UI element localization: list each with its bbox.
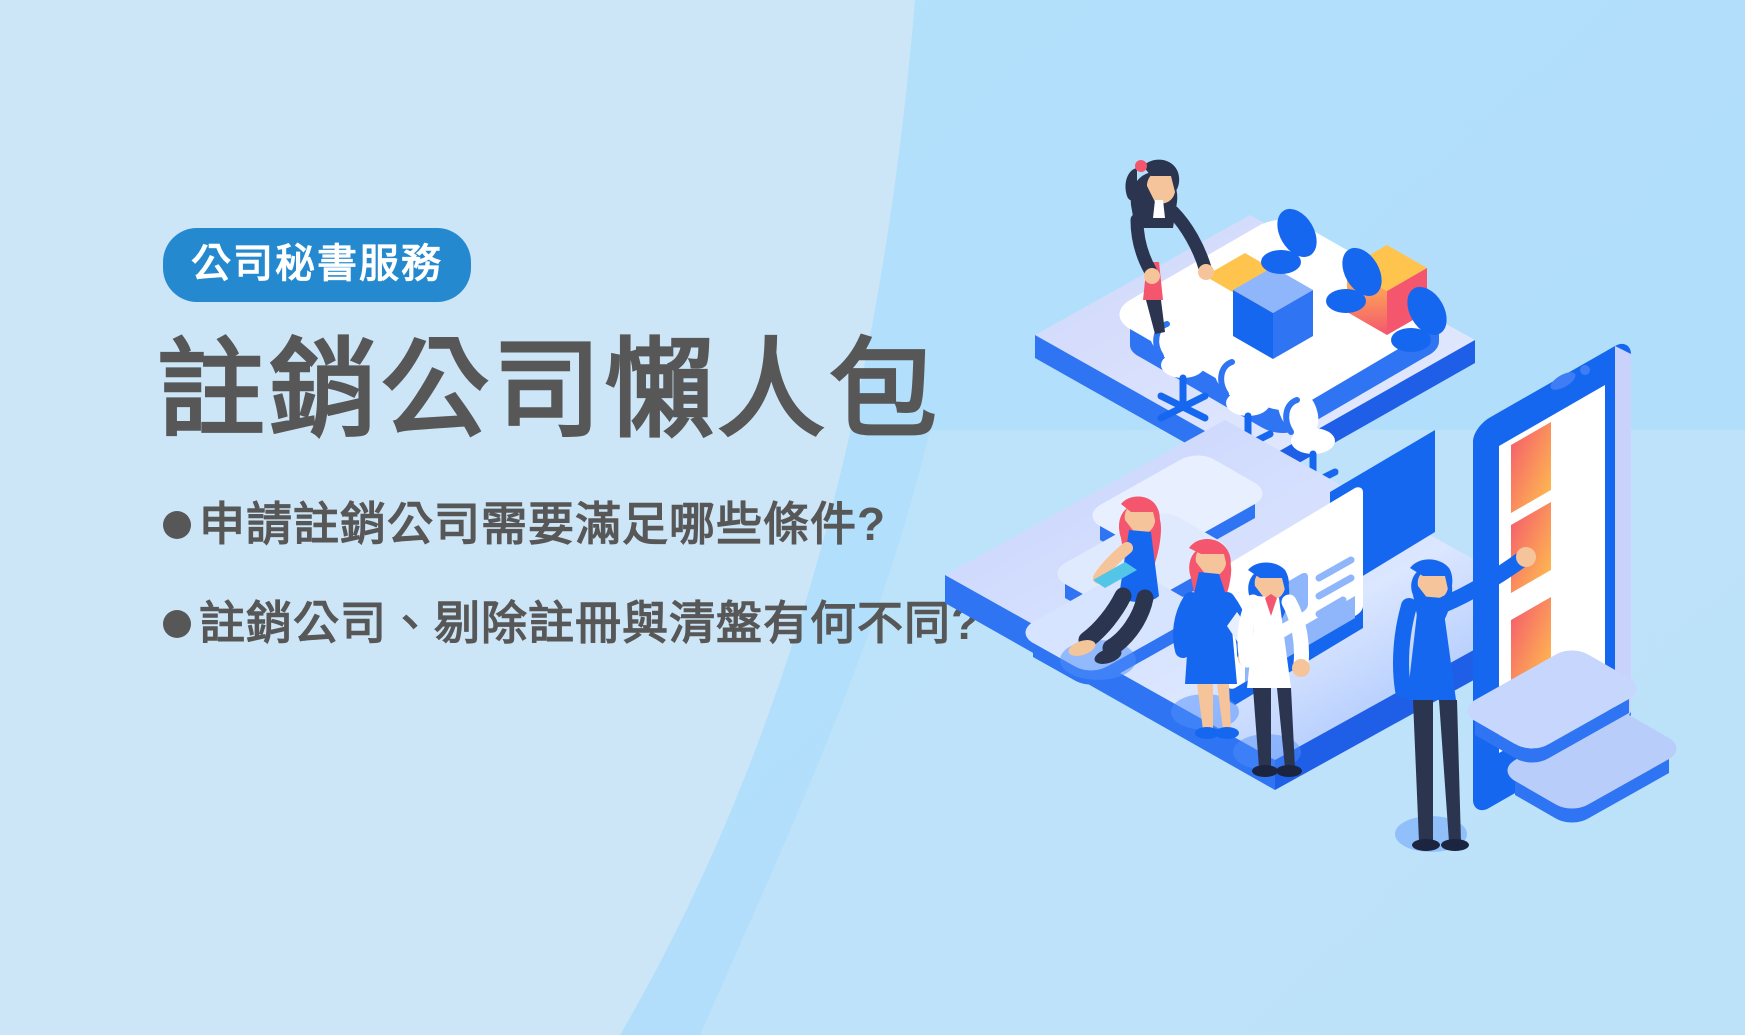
bullet-dot-icon: [163, 511, 191, 539]
bullet-dot-icon: [163, 610, 191, 638]
list-item: 註銷公司、剔除註冊與清盤有何不同?: [163, 596, 1043, 651]
page-title: 註銷公司懶人包: [157, 332, 1043, 449]
list-item: 申請註銷公司需要滿足哪些條件?: [163, 497, 1043, 552]
bullet-text: 申請註銷公司需要滿足哪些條件?: [199, 497, 886, 552]
service-badge: 公司秘書服務: [163, 228, 471, 302]
promo-banner: 公司秘書服務 註銷公司懶人包 申請註銷公司需要滿足哪些條件? 註銷公司、剔除註冊…: [0, 0, 1745, 1035]
bullet-text: 註銷公司、剔除註冊與清盤有何不同?: [199, 596, 980, 651]
bullet-list: 申請註銷公司需要滿足哪些條件? 註銷公司、剔除註冊與清盤有何不同?: [163, 497, 1043, 651]
text-column: 公司秘書服務 註銷公司懶人包 申請註銷公司需要滿足哪些條件? 註銷公司、剔除註冊…: [163, 228, 1043, 651]
